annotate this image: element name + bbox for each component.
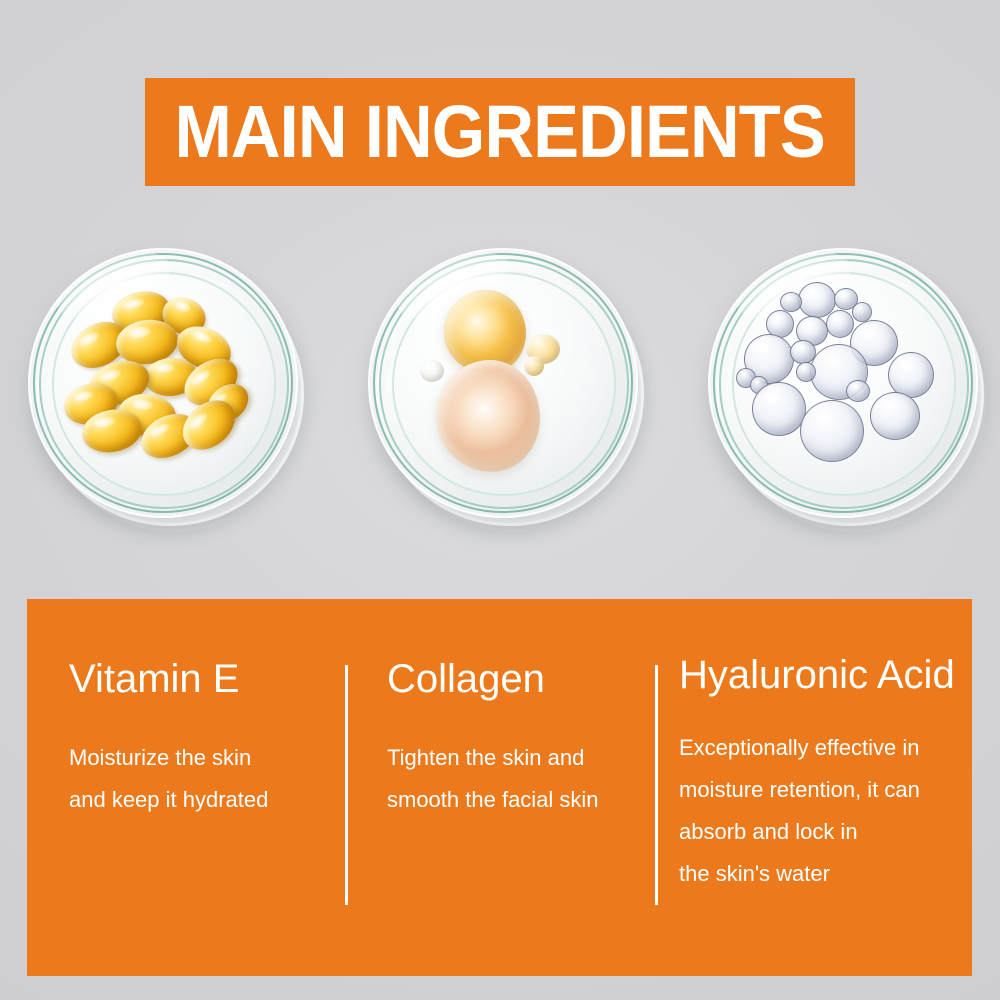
vitamin-e-dish [28, 248, 304, 524]
dish-glass [368, 248, 638, 518]
description-line: Moisturize the skin [69, 737, 331, 779]
description-line: Exceptionally effective in [679, 727, 975, 769]
ingredient-title: Vitamin E [69, 657, 331, 701]
hyaluronic-acid-bubbles [736, 276, 948, 488]
description-line: absorb and lock in [679, 811, 975, 853]
collagen-dish [368, 248, 644, 524]
description-line: Tighten the skin and [387, 737, 639, 779]
ingredient-description: Tighten the skin and smooth the facial s… [387, 737, 639, 821]
ingredients-infographic: MAIN INGREDIENTS [0, 0, 1000, 1000]
ingredient-description: Moisturize the skin and keep it hydrated [69, 737, 331, 821]
ingredient-dish-row [0, 248, 1000, 548]
column-divider-2 [655, 665, 658, 905]
description-line: moisture retention, it can [679, 769, 975, 811]
ingredient-column-collagen: Collagen Tighten the skin and smooth the… [387, 599, 639, 821]
vitamin-e-capsules [56, 276, 268, 488]
hyaluronic-acid-dish [708, 248, 984, 524]
dish-glass [28, 248, 298, 518]
ingredient-column-vitamin-e: Vitamin E Moisturize the skin and keep i… [69, 599, 331, 821]
ingredient-title: Hyaluronic Acid [679, 653, 975, 697]
column-divider-1 [345, 665, 348, 905]
description-line: the skin's water [679, 853, 975, 895]
ingredient-title: Collagen [387, 657, 639, 701]
ingredients-info-panel: Vitamin E Moisturize the skin and keep i… [27, 599, 972, 976]
collagen-gel-blobs [396, 276, 608, 488]
ingredient-column-hyaluronic-acid: Hyaluronic Acid Exceptionally effective … [679, 599, 975, 895]
description-line: smooth the facial skin [387, 779, 639, 821]
title-banner: MAIN INGREDIENTS [145, 78, 855, 186]
dish-glass [708, 248, 978, 518]
description-line: and keep it hydrated [69, 779, 331, 821]
ingredient-description: Exceptionally effective in moisture rete… [679, 727, 975, 895]
page-title: MAIN INGREDIENTS [175, 95, 825, 169]
